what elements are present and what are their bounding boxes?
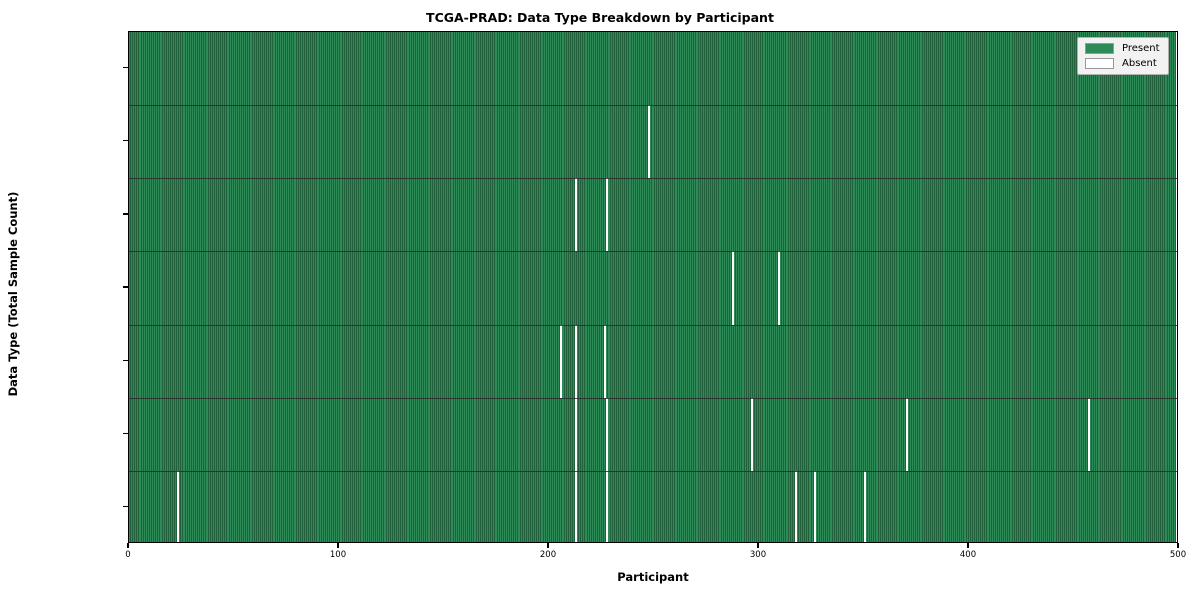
x-tick-mark xyxy=(127,543,128,548)
legend-swatch-icon xyxy=(1085,43,1114,54)
heatmap-cell xyxy=(1174,325,1176,398)
heatmap-cell xyxy=(1174,398,1176,471)
x-tick-mark xyxy=(1177,543,1178,548)
heatmap-cell xyxy=(1174,471,1176,543)
chart-figure: TCGA-PRAD: Data Type Breakdown by Partic… xyxy=(0,0,1200,600)
heatmap-plot-area xyxy=(128,31,1178,543)
heatmap-cell xyxy=(1174,105,1176,178)
x-tick-label-100: 100 xyxy=(330,550,346,560)
legend-swatch-icon xyxy=(1085,58,1114,69)
x-tick-mark xyxy=(757,543,758,548)
x-tick-label-200: 200 xyxy=(540,550,556,560)
legend-label: Present xyxy=(1122,43,1160,54)
heatmap-row-clinical xyxy=(129,105,1177,178)
heatmap-row-mir xyxy=(129,471,1177,543)
chart-title: TCGA-PRAD: Data Type Breakdown by Partic… xyxy=(0,10,1200,25)
heatmap-row-bcr xyxy=(129,32,1177,105)
row-separator xyxy=(129,398,1177,399)
legend-label: Absent xyxy=(1122,58,1157,69)
row-separator xyxy=(129,105,1177,106)
x-tick-label-400: 400 xyxy=(960,550,976,560)
heatmap-row-mrna xyxy=(129,398,1177,471)
legend-entry-absent[interactable]: Absent xyxy=(1085,58,1160,69)
x-axis-label: Participant xyxy=(128,570,1178,584)
chart-legend: PresentAbsent xyxy=(1077,37,1169,75)
row-separator xyxy=(129,325,1177,326)
row-separator xyxy=(129,471,1177,472)
legend-entry-present[interactable]: Present xyxy=(1085,43,1160,54)
heatmap-cell xyxy=(1174,251,1176,324)
heatmap-cell xyxy=(1174,178,1176,251)
x-tick-label-300: 300 xyxy=(750,550,766,560)
x-tick-mark xyxy=(547,543,548,548)
heatmap-row-methylation xyxy=(129,325,1177,398)
heatmap-row-maf xyxy=(129,178,1177,251)
y-axis-label: Data Type (Total Sample Count) xyxy=(6,34,20,554)
x-tick-mark xyxy=(967,543,968,548)
row-separator xyxy=(129,178,1177,179)
heatmap-row-cn xyxy=(129,251,1177,324)
x-tick-label-500: 500 xyxy=(1170,550,1186,560)
row-separator xyxy=(129,251,1177,252)
heatmap-cell xyxy=(1174,32,1176,105)
x-tick-label-0: 0 xyxy=(125,550,130,560)
x-tick-mark xyxy=(337,543,338,548)
